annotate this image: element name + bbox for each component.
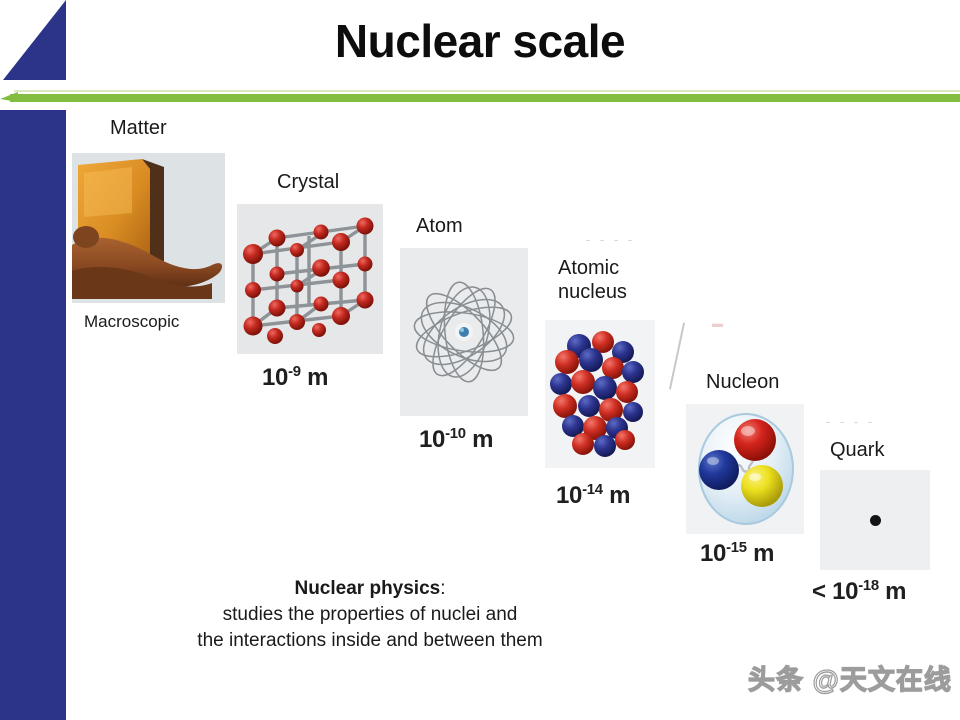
atom-art [400,248,528,416]
quark-point-dot-image [820,470,930,570]
left-accent-bar [0,110,66,720]
green-divider-rule [0,90,960,104]
crystal-lattice-art [237,204,383,354]
green-divider-thin [14,90,960,92]
ghost-mark-artifact: ▬ [712,318,723,330]
scale-label-crystal: 10-9 m [262,364,328,392]
lattice-icon [237,204,383,354]
watermark: 头条 @天文在线 [748,658,952,697]
stage-label-atomic-nucleus: Atomic nucleus [558,256,627,305]
stage-sublabel-macroscopic: Macroscopic [84,312,179,333]
scale-mantissa: 10 [700,540,726,567]
ghost-dash-artifact: - - - - [586,232,635,247]
caption-line-1: Nuclear physics: [110,576,630,602]
scale-mantissa: 10 [832,578,858,605]
scale-exponent: -14 [582,482,603,498]
nucleus-art [545,320,655,468]
hand-crystal-icon [72,153,225,303]
slide-canvas: Nuclear scale Matter [0,0,960,720]
nucleon-art [686,404,804,534]
atom-orbitals-image [400,248,528,416]
scale-exponent: -15 [726,540,747,556]
scale-mantissa: 10 [419,426,445,453]
nucleon-three-quarks-image [686,404,804,534]
scale-prefix: < [812,578,832,605]
atom-icon [400,248,528,416]
scale-label-quark: < 10-18 m [812,578,906,606]
matter-photo-art [72,153,225,303]
scale-label-atom: 10-10 m [419,426,493,454]
scale-unit: m [301,364,328,391]
scale-unit: m [747,540,774,567]
scale-unit: m [466,426,493,453]
scale-mantissa: 10 [262,364,288,391]
stage-label-nucleon: Nucleon [706,370,779,394]
stage-label-atom: Atom [416,214,463,238]
nuclear-physics-caption: Nuclear physics: studies the properties … [110,576,630,655]
stage-label-matter: Matter [110,116,167,140]
scale-unit: m [879,578,906,605]
page-title: Nuclear scale [0,18,960,64]
caption-line-2: studies the properties of nuclei and [110,602,630,628]
crystal-lattice-image [237,204,383,354]
scale-mantissa: 10 [556,482,582,509]
stage-label-quark: Quark [830,438,884,462]
nucleus-nucleons-cluster-image [545,320,655,468]
caption-line-3: the interactions inside and between them [110,628,630,654]
green-divider-thick [10,94,960,102]
quark-dot-icon [870,515,881,526]
scale-unit: m [603,482,630,509]
stage-label-crystal: Crystal [277,170,339,194]
caption-lead: Nuclear physics [294,578,440,599]
scale-exponent: -18 [858,578,879,594]
nucleus-cluster-icon [545,320,655,468]
magnifier-guide-line [669,323,685,390]
scale-exponent: -10 [445,426,466,442]
ghost-dash-artifact-quark: - - - - [826,414,875,429]
scale-label-nucleon: 10-15 m [700,540,774,568]
green-divider-tip-icon [0,92,18,102]
scale-exponent: -9 [288,364,301,380]
caption-colon: : [440,578,445,599]
nucleon-quarks-icon [686,404,804,534]
hand-holding-crystal-photo [72,153,225,303]
scale-label-atomic-nucleus: 10-14 m [556,482,630,510]
